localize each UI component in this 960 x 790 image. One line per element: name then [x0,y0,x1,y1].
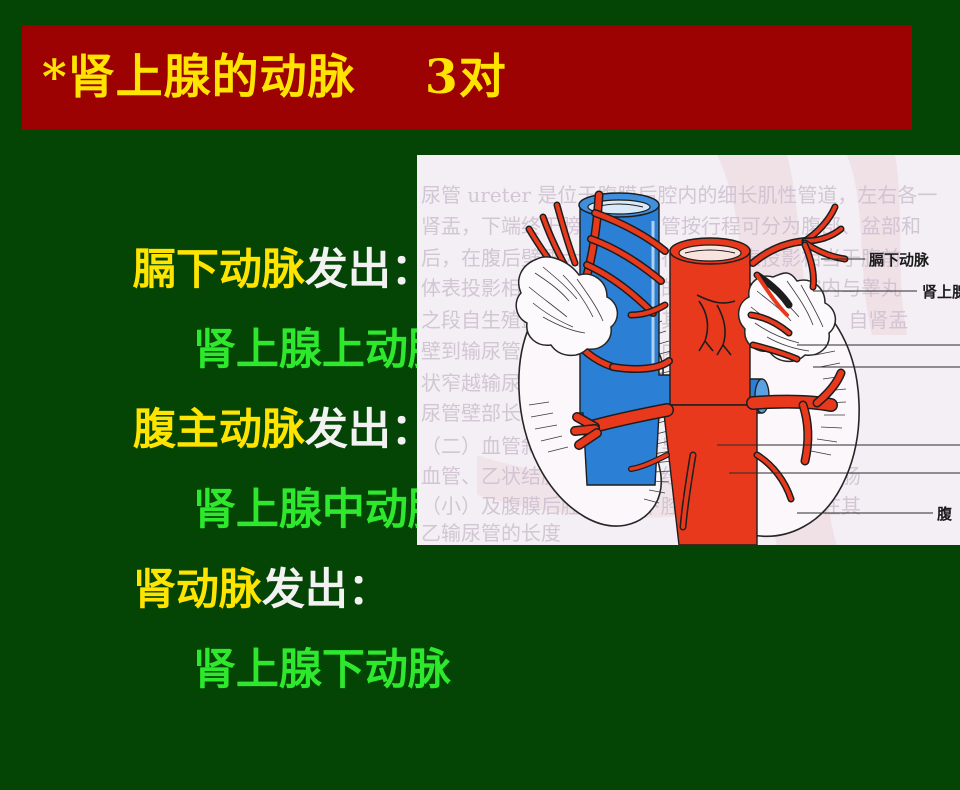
bullet-connector-label: 发出： [305,405,434,455]
abdominal-aorta [663,238,757,545]
anatomy-illustration: 尿管 ureter 是位于腹膜后腔内的细长肌性管道，左右各一 肾盂，下端终于膀胱… [417,155,960,545]
title-banner: *肾上腺的动脉 3对 [22,25,912,130]
bullet-source-label: 腹主动脉 [133,405,305,455]
bullet-branch-label: 肾上腺下动脉 [193,645,451,695]
page-title: *肾上腺的动脉 3对 [42,54,507,101]
list-item: 膈下动脉发出： [0,150,410,230]
page-text-line: 肾盂，下端终于膀胱。输尿管按行程可分为腹部、盆部和 [421,214,921,238]
bullet-connector-label: 发出： [262,565,391,615]
page-text-line: 乙输尿管的长度 [421,521,561,545]
label-suprarenal-gland: 肾上腺 [922,283,960,301]
bullet-source-label: 肾动脉 [133,565,262,615]
label-inferior-phrenic-artery: 膈下动脉 [869,251,930,269]
bullet-list: 膈下动脉发出： 肾上腺上动脉 腹主动脉发出： 肾上腺中动脉 肾动脉发出： 肾上腺… [0,150,410,630]
page-text-line: 尿管 ureter 是位于腹膜后腔内的细长肌性管道，左右各一 [421,183,937,207]
bullet-branch-label: 肾上腺上动脉 [193,325,451,375]
bullet-connector-label: 发出： [305,245,434,295]
slide-root: *肾上腺的动脉 3对 膈下动脉发出： 肾上腺上动脉 腹主动脉发出： 肾上腺中动脉… [0,0,960,720]
anatomy-figure-panel: 尿管 ureter 是位于腹膜后腔内的细长肌性管道，左右各一 肾盂，下端终于膀胱… [417,155,960,545]
label-abdominal-aorta: 腹 [937,505,953,523]
bullet-source-label: 膈下动脉 [133,245,305,295]
bullet-branch-label: 肾上腺中动脉 [193,485,451,535]
